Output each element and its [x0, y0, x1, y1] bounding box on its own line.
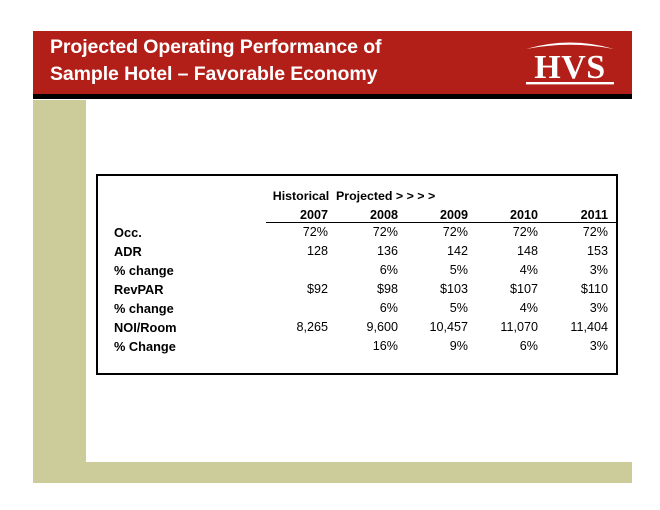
table-year-header-row: 2007 2008 2009 2010 2011: [98, 203, 616, 223]
group-header-projected: Projected > > > >: [336, 176, 616, 203]
cell-value: 9,600: [336, 318, 406, 337]
table-row: Occ.72%72%72%72%72%: [98, 223, 616, 242]
cell-value: 3%: [546, 261, 616, 280]
cell-value: 8,265: [266, 318, 336, 337]
column-header-2007: 2007: [266, 203, 336, 223]
cell-value: 3%: [546, 299, 616, 318]
column-header-2011: 2011: [546, 203, 616, 223]
table-row: % change6%5%4%3%: [98, 261, 616, 280]
row-label: NOI/Room: [98, 318, 266, 337]
cell-value: 6%: [336, 261, 406, 280]
cell-value: 136: [336, 242, 406, 261]
logo-underline-icon: [526, 82, 614, 84]
cell-value: 11,070: [476, 318, 546, 337]
performance-table-grid: Historical Projected > > > > 2007 2008 2…: [98, 176, 616, 356]
row-label: Occ.: [98, 223, 266, 242]
cell-value: 72%: [546, 223, 616, 242]
cell-value: 4%: [476, 261, 546, 280]
accent-bar-vertical: [33, 100, 86, 483]
cell-value: 72%: [336, 223, 406, 242]
table-group-header-row: Historical Projected > > > >: [98, 176, 616, 203]
row-label: % Change: [98, 337, 266, 356]
table-row: % change6%5%4%3%: [98, 299, 616, 318]
group-header-spacer: [98, 176, 266, 203]
cell-value: [266, 299, 336, 318]
cell-value: 4%: [476, 299, 546, 318]
slide-canvas: Projected Operating Performance of Sampl…: [0, 0, 660, 510]
cell-value: 6%: [476, 337, 546, 356]
cell-value: 72%: [476, 223, 546, 242]
page-title-line1: Projected Operating Performance of: [50, 36, 381, 58]
cell-value: 6%: [336, 299, 406, 318]
page-title-line2: Sample Hotel – Favorable Economy: [50, 63, 377, 85]
table-row: RevPAR$92$98$103$107$110: [98, 280, 616, 299]
page-title: Projected Operating Performance of Sampl…: [50, 34, 490, 88]
cell-value: $110: [546, 280, 616, 299]
logo-wordmark: HVS: [534, 49, 605, 86]
title-banner-rule: [33, 94, 632, 99]
column-header-2009: 2009: [406, 203, 476, 223]
cell-value: 153: [546, 242, 616, 261]
cell-value: [266, 337, 336, 356]
cell-value: $92: [266, 280, 336, 299]
cell-value: 142: [406, 242, 476, 261]
accent-bar-horizontal: [33, 462, 632, 483]
group-header-historical: Historical: [266, 176, 336, 203]
table-row: NOI/Room8,2659,60010,45711,07011,404: [98, 318, 616, 337]
column-header-2008: 2008: [336, 203, 406, 223]
cell-value: 72%: [266, 223, 336, 242]
year-header-spacer: [98, 203, 266, 223]
cell-value: 5%: [406, 261, 476, 280]
cell-value: 11,404: [546, 318, 616, 337]
cell-value: 5%: [406, 299, 476, 318]
row-label: % change: [98, 261, 266, 280]
row-label: % change: [98, 299, 266, 318]
cell-value: 72%: [406, 223, 476, 242]
performance-table: Historical Projected > > > > 2007 2008 2…: [96, 174, 618, 375]
cell-value: $98: [336, 280, 406, 299]
cell-value: 9%: [406, 337, 476, 356]
cell-value: $107: [476, 280, 546, 299]
table-body: Occ.72%72%72%72%72%ADR128136142148153% c…: [98, 223, 616, 356]
cell-value: [266, 261, 336, 280]
hvs-logo: HVS: [523, 36, 617, 89]
column-header-2010: 2010: [476, 203, 546, 223]
row-label: ADR: [98, 242, 266, 261]
cell-value: 128: [266, 242, 336, 261]
cell-value: 148: [476, 242, 546, 261]
table-row: % Change16%9%6%3%: [98, 337, 616, 356]
row-label: RevPAR: [98, 280, 266, 299]
cell-value: 3%: [546, 337, 616, 356]
cell-value: $103: [406, 280, 476, 299]
cell-value: 10,457: [406, 318, 476, 337]
cell-value: 16%: [336, 337, 406, 356]
table-row: ADR128136142148153: [98, 242, 616, 261]
